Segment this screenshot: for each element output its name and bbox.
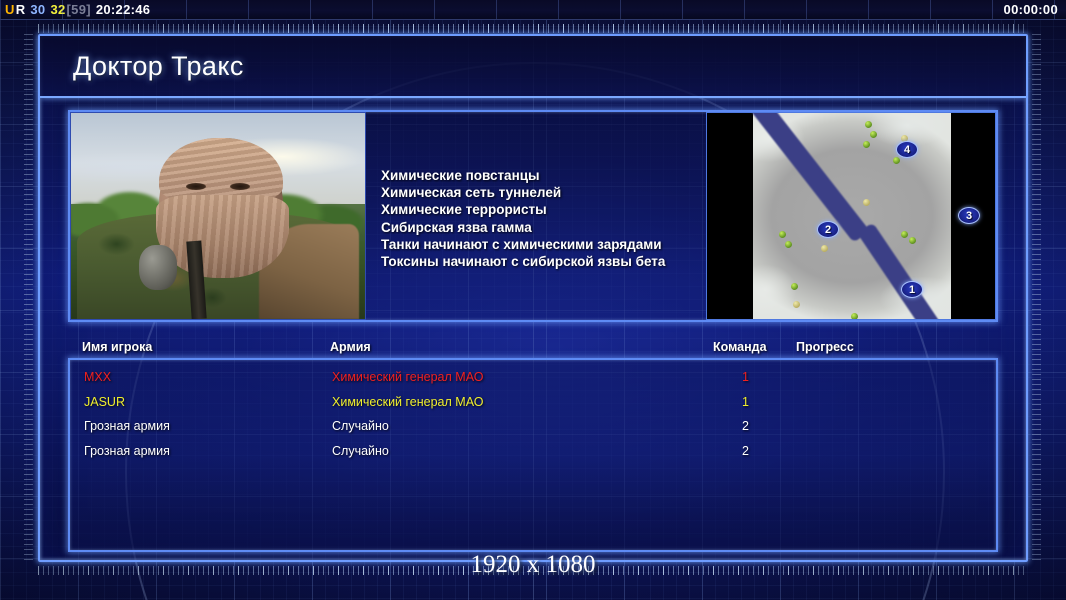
- description-line: Химические повстанцы: [381, 167, 706, 184]
- description-line: Сибирская язва гамма: [381, 219, 706, 236]
- status-value-30: 30: [30, 2, 45, 17]
- top-status-bar: U R 30 32 [59] 20:22:46 00:00:00: [0, 0, 1066, 20]
- map-vegetation: [791, 283, 798, 290]
- map-start-position[interactable]: 4: [896, 141, 918, 158]
- title-bar: Доктор Тракс: [40, 36, 1026, 98]
- header-progress: Прогресс: [796, 340, 854, 354]
- map-start-position[interactable]: 1: [901, 281, 923, 298]
- status-prefix-u: U: [5, 2, 15, 17]
- map-vegetation: [851, 313, 858, 320]
- map-vegetation: [863, 141, 870, 148]
- map-preview[interactable]: 1 2 3 4: [706, 112, 996, 320]
- map-vegetation: [779, 231, 786, 238]
- status-value-bracket: [59]: [67, 2, 91, 17]
- map-vegetation: [793, 301, 800, 308]
- map-vegetation: [893, 157, 900, 164]
- ruler-top: [38, 24, 1028, 33]
- header-army: Армия: [330, 340, 371, 354]
- map-vegetation: [785, 241, 792, 248]
- resolution-label: 1920 x 1080: [0, 551, 1066, 579]
- briefing-panel: Химические повстанцы Химическая сеть тун…: [68, 110, 998, 322]
- map-vegetation: [909, 237, 916, 244]
- description-line: Токсины начинают с сибирской язвы бета: [381, 253, 706, 270]
- map-start-position[interactable]: 3: [958, 207, 980, 224]
- portrait-canteen: [139, 245, 177, 290]
- map-vegetation: [863, 199, 870, 206]
- game-lobby-screen: U R 30 32 [59] 20:22:46 00:00:00 Доктор …: [0, 0, 1066, 600]
- player-table-headers: Имя игрока Армия Команда Прогресс: [68, 340, 998, 358]
- player-team[interactable]: 1: [742, 395, 749, 409]
- player-name: MXX: [84, 370, 111, 384]
- player-team[interactable]: 1: [742, 370, 749, 384]
- map-vegetation: [865, 121, 872, 128]
- status-prefix-r: R: [16, 2, 26, 17]
- player-army[interactable]: Случайно: [332, 444, 389, 458]
- player-army[interactable]: Химический генерал МАО: [332, 395, 483, 409]
- map-start-position[interactable]: 2: [817, 221, 839, 238]
- commander-portrait: [70, 112, 366, 320]
- table-row[interactable]: MXX Химический генерал МАО 1: [70, 365, 996, 390]
- player-table: MXX Химический генерал МАО 1 JASUR Химич…: [68, 358, 998, 552]
- player-team[interactable]: 2: [742, 419, 749, 433]
- topbar-tick-marks: [0, 0, 1066, 19]
- description-line: Танки начинают с химическими зарядами: [381, 236, 706, 253]
- header-team: Команда: [713, 340, 767, 354]
- player-name: Грозная армия: [84, 419, 170, 433]
- map-vegetation: [870, 131, 877, 138]
- description-line: Химическая сеть туннелей: [381, 184, 706, 201]
- header-player-name: Имя игрока: [82, 340, 152, 354]
- player-team[interactable]: 2: [742, 444, 749, 458]
- player-army[interactable]: Химический генерал МАО: [332, 370, 483, 384]
- status-value-32: 32: [50, 2, 65, 17]
- table-row[interactable]: Грозная армия Случайно 2: [70, 414, 996, 439]
- ruler-right: [1032, 34, 1041, 562]
- topbar-left-group: U R 30 32 [59] 20:22:46: [0, 2, 150, 17]
- player-name: JASUR: [84, 395, 125, 409]
- ruler-left: [24, 34, 33, 562]
- status-clock-left: 20:22:46: [96, 2, 150, 17]
- player-name: Грозная армия: [84, 444, 170, 458]
- map-vegetation: [901, 231, 908, 238]
- faction-description: Химические повстанцы Химическая сеть тун…: [366, 112, 706, 320]
- page-title: Доктор Тракс: [40, 51, 244, 82]
- table-row[interactable]: Грозная армия Случайно 2: [70, 439, 996, 464]
- map-river: [743, 112, 870, 243]
- table-row[interactable]: JASUR Химический генерал МАО 1: [70, 390, 996, 415]
- player-army[interactable]: Случайно: [332, 419, 389, 433]
- description-line: Химические террористы: [381, 201, 706, 218]
- status-clock-right: 00:00:00: [1004, 2, 1066, 17]
- map-vegetation: [821, 245, 828, 252]
